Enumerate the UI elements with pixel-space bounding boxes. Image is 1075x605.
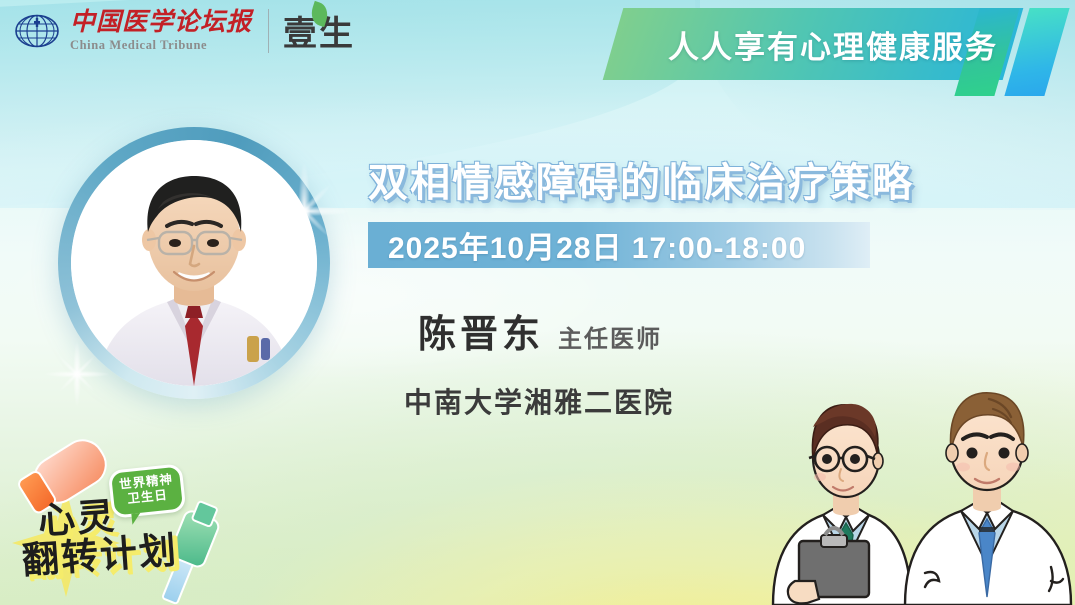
portrait-photo — [71, 140, 317, 386]
datetime-text: 2025年10月28日 17:00-18:00 — [388, 222, 806, 268]
logo-divider — [268, 9, 269, 53]
campaign-title-line2: 翻转计划 — [21, 532, 179, 581]
brand-name-cn: 中国医学论坛报 — [70, 10, 252, 35]
doctors-illustration — [765, 355, 1075, 605]
globe-icon — [14, 10, 60, 52]
two-doctors-graphic — [765, 355, 1075, 605]
brand-name-en: China Medical Tribune — [70, 39, 252, 52]
campaign-logo: 心灵 翻转计划 世界精神 卫生日 — [4, 445, 219, 603]
doctor-right — [905, 393, 1071, 605]
speaker-info: 陈晋东 主任医师 — [418, 303, 662, 358]
speaker-job-title: 主任医师 — [558, 319, 662, 354]
speaker-affiliation: 中南大学湘雅二医院 — [404, 381, 674, 421]
speaker-name: 陈晋东 — [418, 303, 544, 358]
portrait-illustration — [71, 140, 317, 386]
slogan-banner: 人人享有心理健康服务 — [595, 8, 1075, 80]
webinar-title: 双相情感障碍的临床治疗策略 — [368, 150, 914, 208]
slogan-text: 人人享有心理健康服务 — [643, 8, 1023, 80]
brand-logo: 中国医学论坛报 China Medical Tribune 壹生 — [14, 6, 355, 55]
brand-wordmark: 中国医学论坛报 China Medical Tribune — [70, 10, 252, 52]
sub-brand-name: 壹生 — [283, 6, 355, 55]
speaker-portrait — [58, 127, 330, 399]
campaign-badge: 世界精神 卫生日 — [108, 463, 187, 518]
poster-canvas: 中国医学论坛报 China Medical Tribune 壹生 人人享有心理健… — [0, 0, 1075, 605]
doctor-left — [773, 404, 911, 605]
